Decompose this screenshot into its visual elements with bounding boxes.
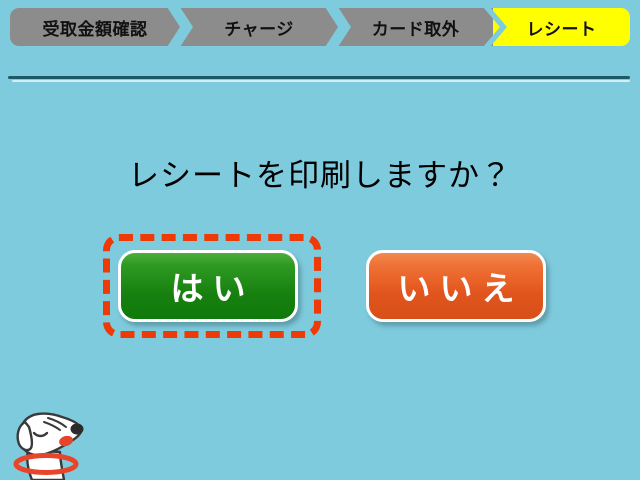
confirm-yes-button-label: はい	[162, 262, 255, 310]
breadcrumb-step-3: カード取外	[338, 8, 493, 46]
header-divider	[8, 76, 630, 79]
dog-ear	[18, 422, 32, 450]
breadcrumb-step-2: チャージ	[180, 8, 338, 46]
confirm-no-button[interactable]: いいえ	[366, 250, 546, 322]
dog-nose	[71, 424, 84, 435]
breadcrumb-step-1: 受取金額確認	[10, 8, 180, 46]
confirm-no-button-label: いいえ	[389, 262, 524, 310]
breadcrumb-step-4: レシート	[493, 8, 630, 46]
header-divider-shadow	[12, 80, 630, 82]
breadcrumb: 受取金額確認 チャージ カード取外 レシート	[10, 8, 630, 46]
breadcrumb-step-2-label: チャージ	[224, 15, 294, 40]
breadcrumb-step-4-label: レシート	[527, 15, 597, 40]
breadcrumb-step-3-label: カード取外	[372, 15, 460, 40]
breadcrumb-step-1-label: 受取金額確認	[43, 15, 148, 40]
page-title: レシートを印刷しますか？	[0, 150, 640, 195]
dog-mascot-icon	[8, 402, 108, 480]
confirm-yes-button[interactable]: はい	[118, 250, 298, 322]
